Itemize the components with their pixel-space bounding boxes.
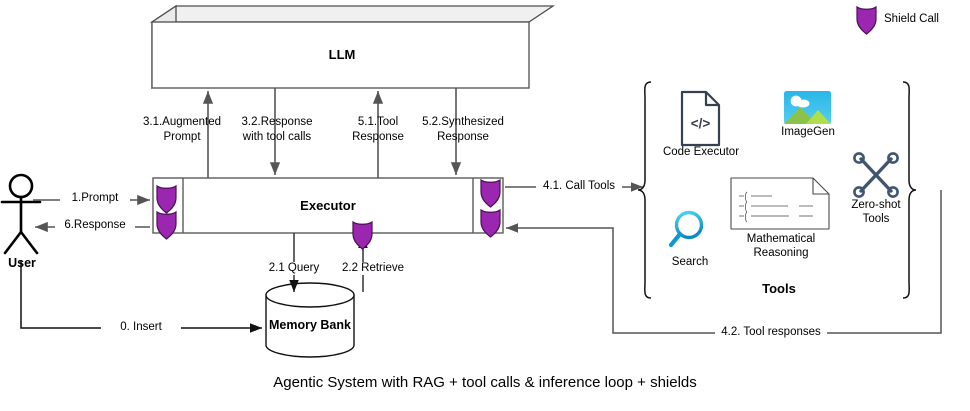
executor-label: Executor — [278, 199, 378, 212]
diagram-canvas: </> — [0, 0, 970, 411]
edge-label-synthesized-line2: Response — [415, 131, 511, 144]
edge-label-retrieve: 2.2 Retrieve — [330, 262, 416, 275]
code-document-icon: </> — [682, 92, 719, 145]
shield-executor-left-bottom — [157, 212, 176, 239]
shield-retrieve — [353, 222, 372, 249]
shield-legend-icon — [857, 7, 876, 34]
edge-label-response: 6.Response — [55, 219, 135, 232]
edge-label-call-tools: 4.1. Call Tools — [536, 180, 622, 193]
crossed-wrenches-icon — [854, 153, 897, 196]
tools-group-label: Tools — [729, 282, 829, 295]
tool-label-mathematical-reasoning: Mathematical Reasoning — [735, 232, 827, 260]
edge-label-prompt: 1.Prompt — [60, 192, 130, 205]
edge-label-tool-responses: 4.2. Tool responses — [715, 326, 827, 339]
tool-label-code-executor: Code Executor — [650, 146, 752, 159]
edge-label-tool-response-line2: Response — [340, 131, 416, 144]
svg-text:</>: </> — [691, 116, 711, 131]
edge-insert — [21, 260, 262, 328]
user-actor — [2, 175, 40, 253]
edge-label-response-tool-calls-line2: with tool calls — [235, 131, 319, 144]
edge-label-response-tool-calls-line1: 3.2.Response — [235, 116, 319, 129]
diagram-caption: Agentic System with RAG + tool calls & i… — [0, 374, 970, 391]
edge-label-augmented-prompt-line2: Prompt — [140, 131, 224, 144]
tool-label-imagegen: ImageGen — [767, 126, 849, 139]
legend-label: Shield Call — [884, 13, 964, 26]
tool-label-search: Search — [661, 256, 719, 269]
edge-label-query: 2.1 Query — [256, 262, 332, 275]
edge-label-insert: 0. Insert — [101, 321, 181, 334]
magnifier-icon — [671, 213, 702, 246]
tools-group-brace-left — [638, 82, 651, 298]
user-label: User — [0, 257, 44, 270]
edge-label-synthesized-line1: 5.2.Synthesized — [415, 116, 511, 129]
llm-label: LLM — [292, 48, 392, 61]
image-icon — [784, 91, 831, 124]
tools-group-brace-right — [903, 82, 916, 298]
edge-label-augmented-prompt-line1: 3.1.Augmented — [140, 116, 224, 129]
memory-bank-label: Memory Bank — [261, 319, 359, 332]
tool-label-zero-shot-tools: Zero-shot Tools — [840, 198, 912, 226]
diagram-svg: </> — [0, 0, 970, 411]
formula-document-icon — [731, 178, 829, 229]
edge-label-tool-response-line1: 5.1.Tool — [340, 116, 416, 129]
